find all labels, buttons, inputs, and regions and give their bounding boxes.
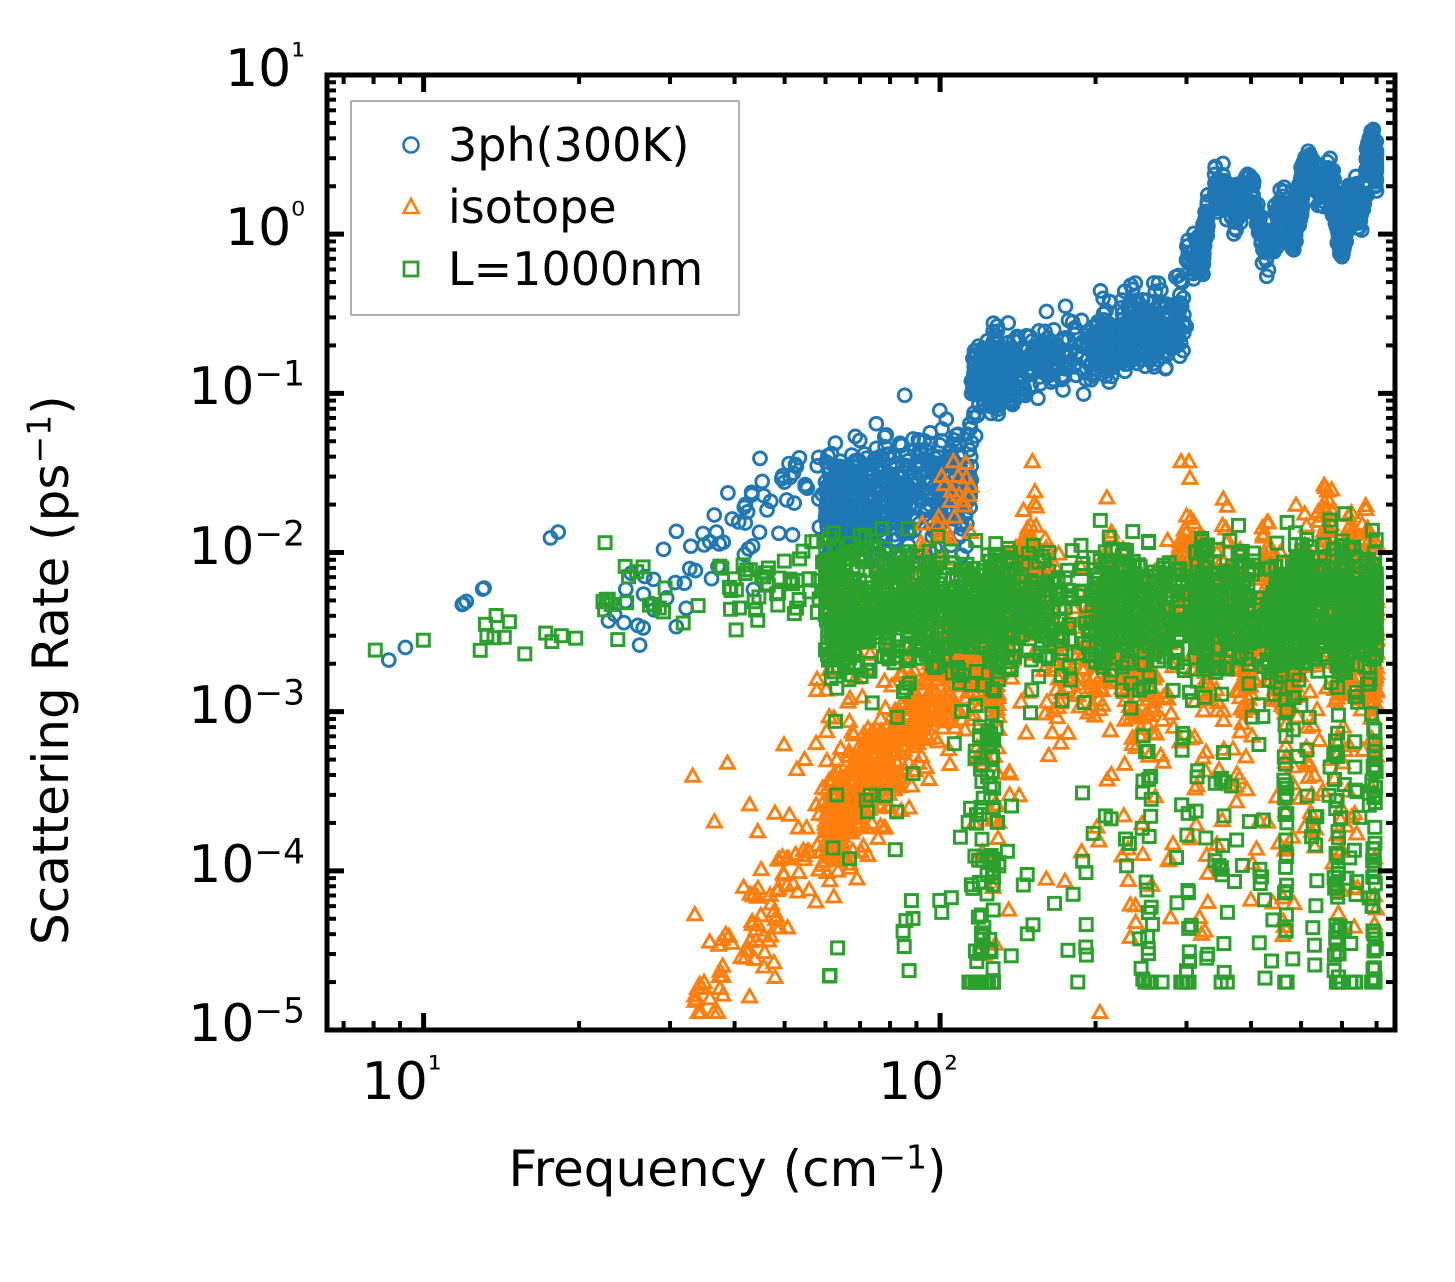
- legend-label-3ph: 3ph(300K): [448, 118, 689, 172]
- x-axis-title-close: ): [927, 1140, 947, 1198]
- x-axis-title: Frequency (cm−1): [0, 1140, 1455, 1198]
- x-axis-title-exponent: −1: [878, 1137, 927, 1176]
- x-tick-label: 10¹: [362, 1052, 442, 1112]
- x-tick-label: 10²: [878, 1052, 958, 1112]
- y-tick-label: 10−5: [188, 994, 305, 1054]
- y-axis-title-base: Scattering Rate (ps: [22, 464, 80, 945]
- legend-marker-square-icon: [382, 254, 440, 284]
- y-tick-label: 10−2: [188, 517, 305, 577]
- legend-entry-boundary[interactable]: L=1000nm: [352, 238, 738, 300]
- y-axis-title: Scattering Rate (ps−1): [22, 395, 80, 945]
- legend-marker-circle-icon: [382, 130, 440, 160]
- scatter-plot-figure: 10−510−410−310−210−110⁰10¹ 10¹10² Scatte…: [0, 0, 1455, 1282]
- legend-label-boundary: L=1000nm: [448, 242, 703, 296]
- legend-label-isotope: isotope: [448, 180, 617, 234]
- y-tick-label: 10⁰: [225, 198, 305, 258]
- legend-entry-isotope[interactable]: isotope: [352, 176, 738, 238]
- y-tick-label: 10−3: [188, 676, 305, 736]
- legend-marker-triangle-icon: [382, 192, 440, 222]
- legend-box[interactable]: 3ph(300K) isotope L=1000nm: [350, 100, 740, 316]
- y-axis-title-close: ): [22, 395, 80, 415]
- y-tick-label: 10−1: [188, 357, 305, 417]
- legend-entry-3ph[interactable]: 3ph(300K): [352, 114, 738, 176]
- y-tick-label: 10¹: [225, 39, 305, 99]
- y-axis-title-exponent: −1: [19, 415, 58, 464]
- y-tick-label: 10−4: [188, 835, 305, 895]
- x-axis-title-base: Frequency (cm: [508, 1140, 878, 1198]
